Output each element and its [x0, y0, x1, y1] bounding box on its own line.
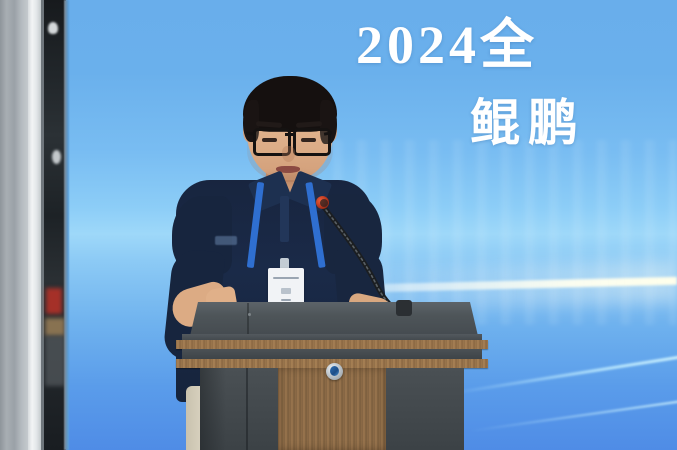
- podium-wood-trim-upper: [176, 340, 488, 349]
- podium-column-shading: [200, 368, 226, 450]
- podium: [0, 0, 677, 450]
- structure-pole: [28, 0, 42, 450]
- podium-grey-band: [182, 349, 482, 359]
- podium-top-seam: [247, 303, 249, 336]
- gap-red-object: [46, 288, 62, 314]
- gap-highlight-top: [48, 22, 58, 34]
- podium-top-surface: [190, 302, 478, 336]
- structure-wall: [0, 0, 30, 450]
- microphone-base: [396, 300, 412, 316]
- podium-screw: [248, 313, 251, 316]
- podium-wood-panel: [278, 368, 386, 450]
- gap-highlight-middle: [52, 150, 61, 164]
- structure-right-edge: [64, 0, 69, 450]
- photo-frame: 2024全 鲲鹏: [0, 0, 677, 450]
- gap-tan-object: [45, 318, 65, 336]
- podium-column-seam: [246, 368, 248, 450]
- gap-grey-object: [45, 336, 65, 386]
- podium-emblem-center: [330, 366, 339, 376]
